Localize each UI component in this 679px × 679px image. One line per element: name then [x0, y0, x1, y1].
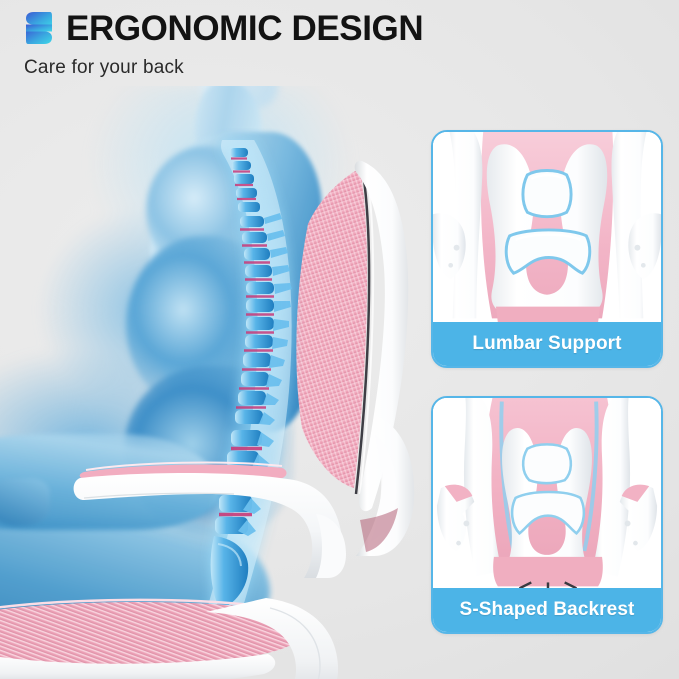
feature-panel-lumbar-support[interactable]: Lumbar Support — [431, 130, 663, 368]
poster-canvas: ERGONOMIC DESIGN Care for your back — [0, 0, 679, 679]
chair-seat — [0, 574, 380, 679]
hero-illustration — [0, 86, 432, 679]
backrest-rear-view-lumbar-illustration — [433, 132, 661, 322]
panel-label-s-shaped-backrest: S-Shaped Backrest — [433, 588, 661, 632]
figure-hand — [0, 478, 50, 526]
title-row: ERGONOMIC DESIGN — [24, 8, 669, 48]
header: ERGONOMIC DESIGN Care for your back — [24, 8, 669, 79]
panel-label-lumbar-support: Lumbar Support — [433, 322, 661, 366]
feature-panel-s-shaped-backrest[interactable]: S-Shaped Backrest — [431, 396, 663, 634]
backrest-rear-view-s-shape-illustration — [433, 398, 661, 588]
chair-armrest — [66, 458, 366, 578]
s-logo-icon — [24, 8, 54, 48]
page-subtitle: Care for your back — [24, 57, 669, 79]
page-title: ERGONOMIC DESIGN — [66, 11, 423, 46]
